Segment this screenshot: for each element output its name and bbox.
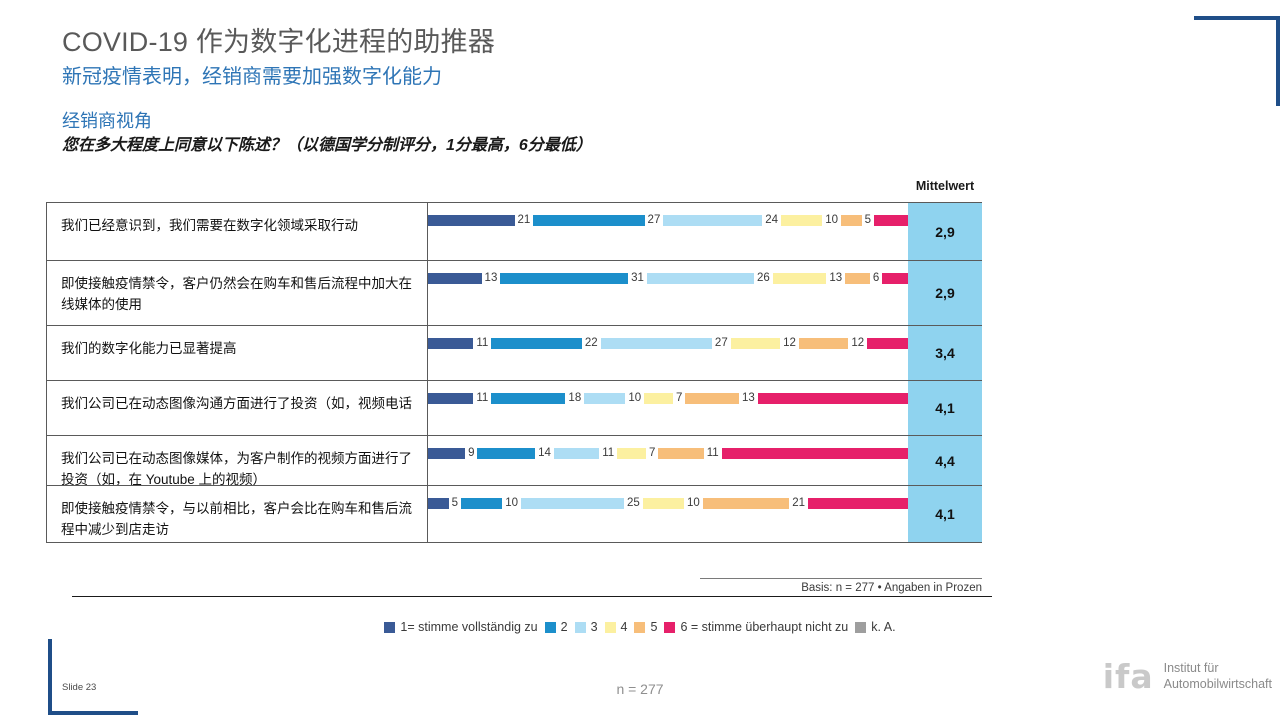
bar-segment-value: 11: [599, 448, 617, 459]
legend-label: 1= stimme vollständig zu: [400, 620, 537, 634]
bar-segment-value: 21: [789, 498, 808, 509]
bar-segment: [808, 498, 915, 509]
mean-value: 2,9: [908, 261, 982, 325]
bar-segment: [644, 393, 673, 404]
stacked-bar: 1331261368: [428, 261, 908, 325]
bar-segment: [584, 393, 625, 404]
bar-segment-value: 9: [465, 448, 477, 459]
bar-segment: [758, 393, 919, 404]
bar-segment: [841, 215, 862, 226]
bar-segment-value: 22: [582, 338, 601, 349]
bar-segment-value: 11: [473, 393, 491, 404]
bar-segment: [428, 393, 473, 404]
bar-segment-value: 7: [673, 393, 685, 404]
slide: COVID-19 作为数字化进程的助推器 新冠疫情表明，经销商需要加强数字化能力…: [0, 0, 1280, 723]
legend-item: 1= stimme vollständig zu: [384, 620, 537, 634]
stacked-bar: 21272410512: [428, 203, 908, 260]
bar-segment: [428, 498, 449, 509]
bar-segment-value: 12: [848, 338, 867, 349]
title-block: COVID-19 作为数字化进程的助推器 新冠疫情表明，经销商需要加强数字化能力…: [62, 26, 592, 157]
bar-segment: [491, 338, 582, 349]
bar-segment: [428, 338, 473, 349]
statement-text: 我们已经意识到，我们需要在数字化领域采取行动: [46, 203, 428, 260]
bar-segment: [663, 215, 762, 226]
bar-segment-value: 11: [704, 448, 722, 459]
bottom-rule: [72, 596, 992, 597]
bar-segment-value: 14: [535, 448, 554, 459]
table-row: 我们公司已在动态图像媒体，为客户制作的视频方面进行了投资（如，在 Youtube…: [46, 435, 982, 485]
stacked-bar: 51025102126: [428, 486, 908, 542]
bar-segment: [799, 338, 848, 349]
statement-text: 即使接触疫情禁令，客户仍然会在购车和售后流程中加大在线媒体的使用: [46, 261, 428, 325]
bar-segment: [685, 393, 739, 404]
logo-line-1: Institut für: [1164, 661, 1272, 677]
legend-swatch-icon: [384, 622, 395, 633]
bar-segment-value: 27: [712, 338, 731, 349]
bar-segment: [521, 498, 624, 509]
legend-label: 6 = stimme überhaupt nicht zu: [680, 620, 848, 634]
legend-item: 4: [605, 620, 628, 634]
stacked-bar: 9141171146: [428, 436, 908, 485]
corner-decoration-bottom-left: [48, 639, 138, 715]
bar-segment: [554, 448, 599, 459]
corner-decoration-top-right: [1194, 16, 1280, 106]
legend-item: k. A.: [855, 620, 895, 634]
bar-segment-value: 25: [624, 498, 643, 509]
legend-label: k. A.: [871, 620, 895, 634]
legend-swatch-icon: [545, 622, 556, 633]
bar-segment: [500, 273, 628, 284]
bar-segment-value: 11: [473, 338, 491, 349]
table-row: 我们已经意识到，我们需要在数字化领域采取行动212724105122,9: [46, 202, 982, 260]
bar-segment-value: 26: [754, 273, 773, 284]
legend-item: 6 = stimme überhaupt nicht zu: [664, 620, 848, 634]
bar-segment-value: 12: [780, 338, 799, 349]
stacked-bar: 112227121215: [428, 326, 908, 380]
legend-swatch-icon: [855, 622, 866, 633]
ifa-logo: ifa Institut für Automobilwirtschaft: [1103, 660, 1272, 693]
statement-text: 我们的数字化能力已显著提高: [46, 326, 428, 380]
statements-table: 我们已经意识到，我们需要在数字化领域采取行动212724105122,9即使接触…: [46, 202, 982, 543]
legend-label: 5: [650, 620, 657, 634]
bar-segment: [731, 338, 780, 349]
legend-label: 2: [561, 620, 568, 634]
mean-value: 4,1: [908, 381, 982, 435]
statement-text: 我们公司已在动态图像沟通方面进行了投资（如，视频电话: [46, 381, 428, 435]
bar-segment-value: 10: [822, 215, 841, 226]
bar-segment-value: 5: [449, 498, 461, 509]
section-label: 经销商视角: [62, 109, 592, 133]
legend-item: 3: [575, 620, 598, 634]
page-subtitle: 新冠疫情表明，经销商需要加强数字化能力: [62, 62, 592, 92]
bar-segment: [722, 448, 912, 459]
bar-segment: [781, 215, 822, 226]
bar-segment: [703, 498, 790, 509]
bar-segment: [658, 448, 703, 459]
logo-wordmark: ifa: [1103, 660, 1154, 693]
logo-subtext: Institut für Automobilwirtschaft: [1164, 661, 1272, 692]
legend-swatch-icon: [634, 622, 645, 633]
bar-segment-value: 27: [645, 215, 664, 226]
bar-segment: [643, 498, 684, 509]
bar-segment-value: 10: [502, 498, 521, 509]
bar-segment-value: 31: [628, 273, 647, 284]
bar-segment-value: 10: [625, 393, 644, 404]
mean-column-header: Mittelwert: [908, 179, 982, 193]
bar-segment: [647, 273, 754, 284]
bar-segment: [477, 448, 535, 459]
bar-segment-value: 10: [684, 498, 703, 509]
bar-segment-value: 13: [482, 273, 501, 284]
bar-segment: [617, 448, 646, 459]
bar-segment: [601, 338, 712, 349]
logo-line-2: Automobilwirtschaft: [1164, 677, 1272, 693]
legend-label: 3: [591, 620, 598, 634]
sample-size-label: n = 277: [0, 681, 1280, 697]
table-row: 我们的数字化能力已显著提高1122271212153,4: [46, 325, 982, 380]
bar-segment: [428, 273, 482, 284]
bar-segment: [773, 273, 827, 284]
chart-legend: 1= stimme vollständig zu23456 = stimme ü…: [0, 620, 1280, 634]
survey-question: 您在多大程度上同意以下陈述？（以德国学分制评分，1分最高，6分最低）: [62, 135, 592, 157]
bar-segment-value: 21: [515, 215, 534, 226]
bar-segment-value: 24: [762, 215, 781, 226]
mean-value: 2,9: [908, 203, 982, 260]
bar-segment: [533, 215, 644, 226]
mean-value: 4,4: [908, 436, 982, 485]
bar-segment-value: 13: [739, 393, 758, 404]
bar-segment: [428, 215, 515, 226]
legend-item: 2: [545, 620, 568, 634]
legend-swatch-icon: [664, 622, 675, 633]
bar-segment: [845, 273, 870, 284]
bar-segment-value: 6: [870, 273, 882, 284]
bar-segment-value: 7: [646, 448, 658, 459]
legend-label: 4: [621, 620, 628, 634]
statement-text: 即使接触疫情禁令，与以前相比，客户会比在购车和售后流程中减少到店走访: [46, 486, 428, 542]
bar-segment-value: 5: [862, 215, 874, 226]
statement-text: 我们公司已在动态图像媒体，为客户制作的视频方面进行了投资（如，在 Youtube…: [46, 436, 428, 485]
legend-swatch-icon: [605, 622, 616, 633]
bar-segment: [491, 393, 565, 404]
table-row: 即使接触疫情禁令，客户仍然会在购车和售后流程中加大在线媒体的使用13312613…: [46, 260, 982, 325]
mean-value: 3,4: [908, 326, 982, 380]
mean-value: 4,1: [908, 486, 982, 542]
bar-segment-value: 18: [565, 393, 584, 404]
table-row: 我们公司已在动态图像沟通方面进行了投资（如，视频电话111810713394,1: [46, 380, 982, 435]
stacked-bar: 11181071339: [428, 381, 908, 435]
bar-segment: [461, 498, 502, 509]
page-title: COVID-19 作为数字化进程的助推器: [62, 26, 592, 59]
table-row: 即使接触疫情禁令，与以前相比，客户会比在购车和售后流程中减少到店走访510251…: [46, 485, 982, 543]
bar-segment: [428, 448, 465, 459]
basis-note: Basis: n = 277 • Angaben in Prozen: [700, 578, 982, 594]
legend-item: 5: [634, 620, 657, 634]
legend-swatch-icon: [575, 622, 586, 633]
bar-segment-value: 13: [826, 273, 845, 284]
